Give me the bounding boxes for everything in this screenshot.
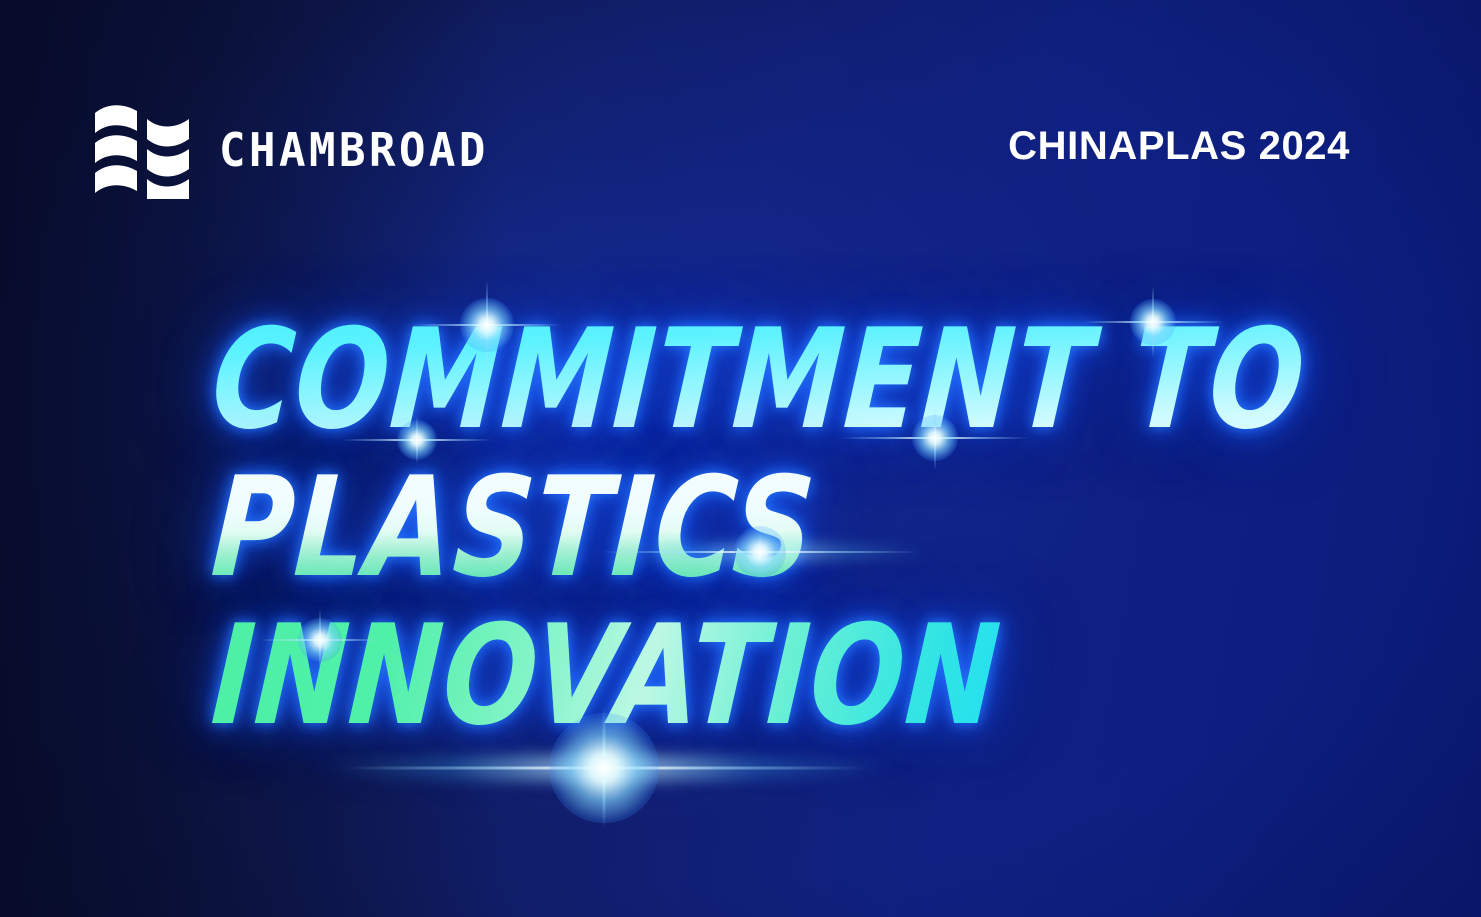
promotional-banner: CHAMBROAD CHINAPLAS 2024 COMMITMENT TO C… [0,0,1481,917]
headline-line-3: INNOVATION INNOVATION [208,602,1311,750]
headline-line-2: PLASTICS PLASTICS [208,454,1311,602]
event-tag: CHINAPLAS 2024 [1008,126,1350,166]
headline-line-1: COMMITMENT TO COMMITMENT TO [208,306,1311,454]
headline-line-1-text: COMMITMENT TO [208,306,1311,454]
banner-header: CHAMBROAD CHINAPLAS 2024 [0,96,1481,206]
headline-block: COMMITMENT TO COMMITMENT TO PLASTICS PLA… [213,306,1481,750]
brand-wordmark: CHAMBROAD [219,128,489,175]
headline-line-3-text: INNOVATION [208,602,1006,750]
brand-lockup: CHAMBROAD [93,96,489,206]
chambroad-wave-logo-icon [93,103,193,199]
headline-line-2-text: PLASTICS [208,454,820,602]
